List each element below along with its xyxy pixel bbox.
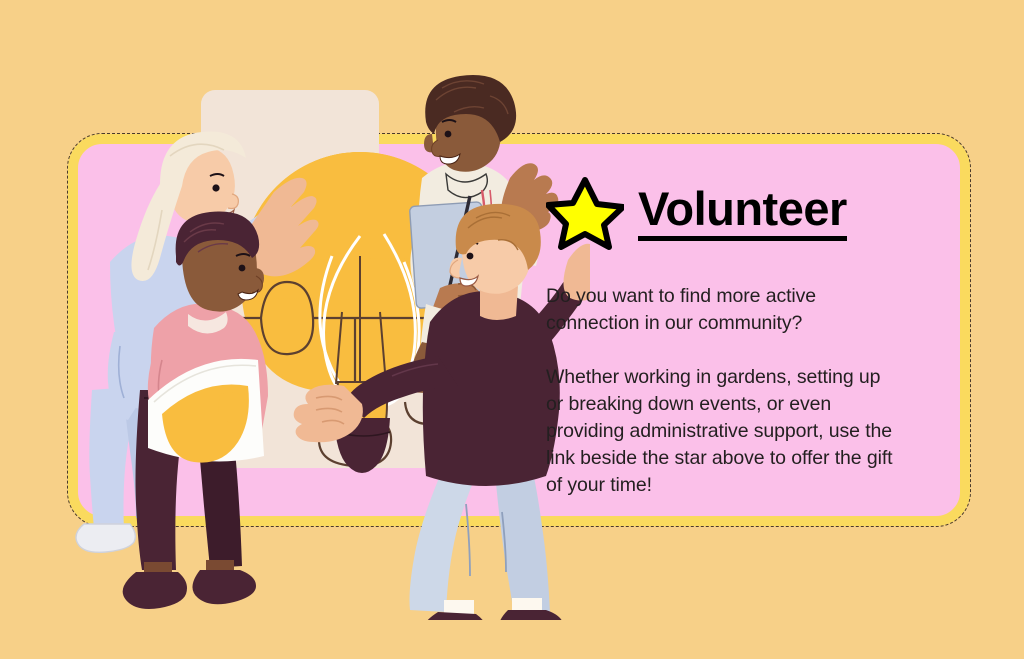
intro-paragraph: Do you want to find more active connecti…	[546, 283, 891, 337]
poster-canvas: Volunteer Do you want to find more activ…	[0, 0, 1024, 659]
page-title[interactable]: Volunteer	[638, 185, 847, 241]
illustration-people-puzzle	[70, 60, 590, 620]
title-row: Volunteer	[546, 176, 946, 250]
star-icon[interactable]	[546, 176, 624, 250]
details-paragraph: Whether working in gardens, setting up o…	[546, 364, 894, 499]
volunteer-text-column: Volunteer Do you want to find more activ…	[546, 176, 946, 519]
